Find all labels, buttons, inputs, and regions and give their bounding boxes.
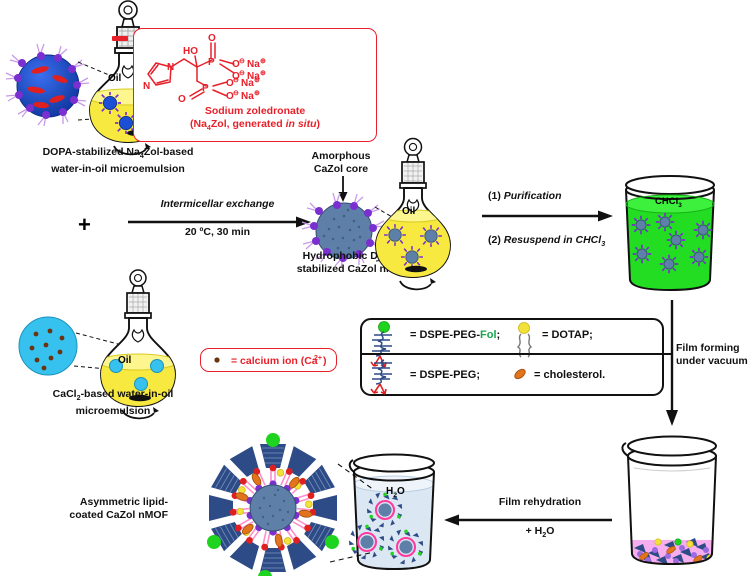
legend-connector [655, 352, 675, 356]
svg-text:⊕: ⊕ [254, 90, 260, 97]
atom-n-top: N [167, 62, 174, 73]
flask-stopper-2 [125, 270, 151, 318]
svg-text:⊖: ⊖ [233, 77, 239, 84]
lipid-legend-box: = DSPE-PEG-Fol; = DOTAP; [360, 318, 664, 396]
final-caption-2: coated CaZol nMOF [48, 509, 168, 522]
chcl3-label: CHCl3 [655, 196, 682, 209]
svg-text:⊕: ⊕ [260, 58, 266, 65]
arrow-intermicellar-exchange [128, 214, 313, 230]
plus-sign: + [78, 214, 91, 236]
atom-ho: HO [183, 46, 198, 57]
svg-text:⊕: ⊕ [260, 70, 266, 77]
stirring-arrowhead-3 [430, 278, 436, 284]
atom-p-top: P [208, 57, 215, 68]
legend-label-dspe-peg: = DSPE-PEG; [410, 369, 480, 381]
arrow1-condition-top: Intermicellar exchange [130, 198, 305, 211]
zol-caption-line2: (Na4Zol, generated in situ) [134, 118, 376, 135]
caption-line-2: water-in-oil microemulsion [8, 163, 228, 176]
beaker-lip [626, 176, 714, 194]
beaker-lip-2 [628, 437, 716, 456]
svg-text:⊖: ⊖ [239, 70, 245, 77]
beaker-gloss [634, 468, 710, 471]
lipid-film-layer [620, 538, 735, 570]
vacuum-line2: under vacuum [676, 355, 750, 368]
sodium-zoledronate-box: N N HO O P P O O⊖ Na⊕ O⊖ Na⊕ O⊖ Na⊕ O⊖ N… [133, 28, 377, 142]
final-product-caption: Asymmetric lipid- coated CaZol nMOF [48, 496, 168, 521]
atom-p-bottom: P [202, 83, 209, 94]
zoledronate-caption: Sodium zoledronate (Na4Zol, generated in… [134, 105, 376, 135]
atom-n-bottom: N [143, 81, 150, 92]
dotap-icon [518, 323, 531, 358]
dspe-peg-fol-icon [371, 322, 392, 368]
svg-text:Na: Na [241, 78, 254, 89]
legend-label-dspe-peg-fol: = DSPE-PEG-Fol; [410, 329, 500, 341]
oil-label-flask3: Oil [402, 206, 415, 217]
atom-o-double-bottom: O [178, 94, 186, 105]
flask-stopper-3 [400, 139, 426, 189]
oil-label-flask1: Oil [108, 73, 121, 84]
oil-label-flask2: Oil [118, 355, 131, 366]
asymmetric-lipid-coated-nmof [178, 442, 368, 576]
vacuum-label: Film forming under vacuum [676, 342, 750, 368]
beaker-lipid-film [610, 432, 740, 572]
vacuum-line1: Film forming [676, 342, 750, 355]
cholesterol-icon [513, 367, 527, 380]
legend-label-cholesterol: = cholesterol. [534, 369, 605, 381]
caption-line-1: DOPA-stabilized Na4Zol-based [8, 146, 228, 163]
svg-text:⊕: ⊕ [254, 77, 260, 84]
arrow-purification [482, 208, 614, 224]
cacl2-microemulsion-caption: CaCl2-based water-in-oil microemulsion [18, 388, 208, 417]
rehydration-line1: Film rehydration [470, 496, 610, 509]
caption-cacl2-1: CaCl2-based water-in-oil [18, 388, 208, 405]
stir-bar-icon-3 [405, 266, 427, 272]
final-caption-1: Asymmetric lipid- [48, 496, 168, 509]
svg-text:⊖: ⊖ [233, 90, 239, 97]
svg-text:): ) [323, 355, 327, 367]
caption-cacl2-2: microemulsion [18, 405, 208, 418]
dash-symbol-icon [112, 36, 128, 41]
calcium-ion-legend-box: = calcium ion (Ca 2+ ) [200, 348, 337, 372]
atom-o-double-top: O [208, 33, 216, 44]
beaker-spout [622, 443, 628, 456]
cazol-core-final [250, 485, 296, 531]
svg-text:Na: Na [241, 91, 254, 102]
calcium-ion-legend-label: = calcium ion (Ca [231, 355, 318, 367]
calcium-ion-icon [214, 357, 219, 362]
svg-text:2+: 2+ [314, 355, 322, 362]
stirring-arrow-3 [400, 281, 431, 289]
scheme-figure: DOPA-stabilized Na4Zol-based water-in-oi… [0, 0, 750, 576]
svg-text:Na: Na [247, 59, 260, 70]
h2o-label: H2O [386, 486, 405, 499]
lipid-legend-icons: = DSPE-PEG-Fol; = DOTAP; [362, 320, 662, 394]
arrow-film-rehydration [444, 512, 614, 528]
beaker-chcl3 [610, 168, 740, 298]
svg-text:⊖: ⊖ [239, 58, 245, 65]
legend-label-dotap: = DOTAP; [542, 329, 593, 341]
zol-caption-line1: Sodium zoledronate [134, 105, 376, 118]
zoledronate-structure: N N HO O P P O O⊖ Na⊕ O⊖ Na⊕ O⊖ Na⊕ O⊖ N… [134, 29, 376, 109]
dopa-microemulsion-caption: DOPA-stabilized Na4Zol-based water-in-oi… [8, 146, 228, 175]
